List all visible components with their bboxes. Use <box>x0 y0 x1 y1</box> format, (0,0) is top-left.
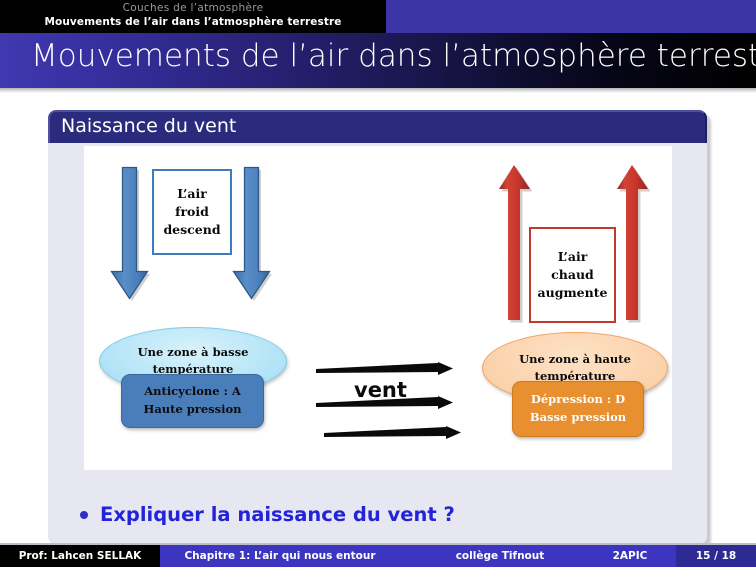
anticyclone-line-2: Haute pression <box>143 401 241 419</box>
diagram-image-panel: L’air froid descend Une zone à basse tem… <box>84 146 672 470</box>
low-temp-line-1: Une zone à basse <box>138 344 249 361</box>
footer-page-number: 15 / 18 <box>676 545 756 567</box>
warm-air-line-2: chaud <box>551 266 594 284</box>
anticyclone-line-1: Anticyclone : A <box>144 383 241 401</box>
wind-arrow-1 <box>316 362 453 375</box>
red-up-arrow-icon-left <box>498 164 532 324</box>
content-block: Naissance du vent <box>48 110 707 545</box>
warm-air-caption-box: L’air chaud augmente <box>529 227 616 323</box>
anticyclone-pressure-box: Anticyclone : A Haute pression <box>121 374 264 428</box>
wind-label: vent <box>354 378 407 402</box>
depression-pressure-box: Dépression : D Basse pression <box>512 381 644 437</box>
bullet-item-label: Expliquer la naissance du vent ? <box>100 503 455 526</box>
red-up-arrow-icon-right <box>616 164 650 324</box>
footer-school: collège Tifnout <box>400 545 600 567</box>
cold-air-line-3: descend <box>163 221 220 239</box>
depression-line-1: Dépression : D <box>531 391 625 409</box>
nav-subsection-label[interactable]: Mouvements de l’air dans l’atmosphère te… <box>0 16 386 28</box>
blue-down-arrow-icon-right <box>232 166 272 311</box>
footer-bar: Prof: Lahcen SELLAK Chapitre 1: L’air qu… <box>0 545 756 567</box>
warm-air-line-1: L’air <box>558 248 588 266</box>
footer-author: Prof: Lahcen SELLAK <box>0 545 160 567</box>
footer-chapter: Chapitre 1: L’air qui nous entour <box>160 545 400 567</box>
title-band-shadow <box>0 88 756 93</box>
footer-class-level: 2APIC <box>580 545 680 567</box>
wind-arrow-3 <box>324 426 461 439</box>
block-header: Naissance du vent <box>48 110 707 143</box>
cold-air-caption-box: L’air froid descend <box>152 169 232 255</box>
wind-arrows-group <box>316 362 464 444</box>
block-body: L’air froid descend Une zone à basse tem… <box>48 143 707 545</box>
nav-section-label[interactable]: Couches de l’atmosphère <box>0 2 386 14</box>
cold-air-line-1: L’air <box>177 185 207 203</box>
blue-down-arrow-icon-left <box>110 166 150 311</box>
bullet-list-item: Expliquer la naissance du vent ? <box>80 503 455 526</box>
block-header-title: Naissance du vent <box>61 115 236 137</box>
navigation-bar: Couches de l’atmosphère Mouvements de l’… <box>0 0 756 33</box>
warm-air-line-3: augmente <box>538 284 608 302</box>
page-title: Mouvements de l’air dans l’atmosphère te… <box>31 38 756 74</box>
high-temp-line-1: Une zone à haute <box>519 351 631 368</box>
slide-title-band: Mouvements de l’air dans l’atmosphère te… <box>0 33 756 88</box>
cold-air-line-2: froid <box>175 203 209 221</box>
depression-line-2: Basse pression <box>530 409 626 427</box>
bullet-dot-icon <box>80 511 88 519</box>
